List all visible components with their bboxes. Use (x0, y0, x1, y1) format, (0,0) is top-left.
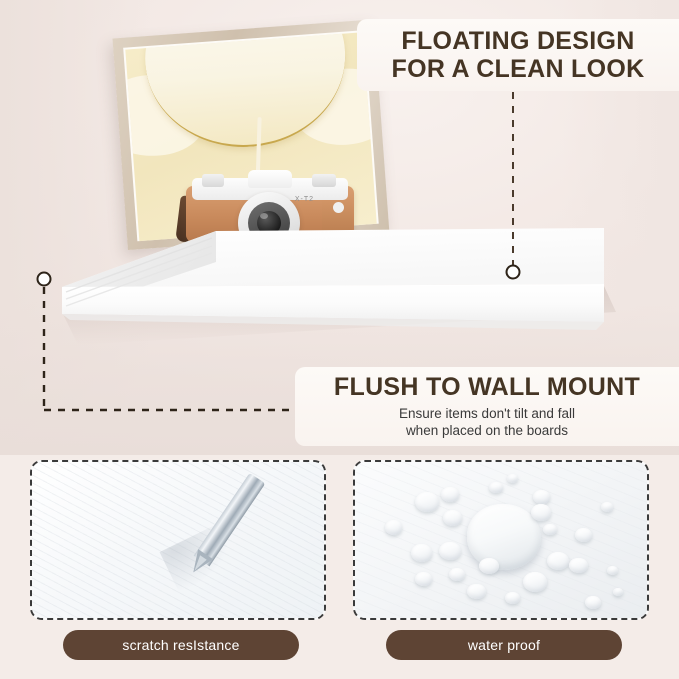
water-droplet (443, 510, 462, 526)
water-droplet-large (467, 504, 541, 570)
scratch-resistance-image (32, 462, 324, 618)
product-feature-graphic: X-T2 (0, 0, 679, 679)
water-droplet (543, 524, 557, 535)
water-droplet (415, 572, 432, 586)
water-droplet (507, 474, 518, 483)
water-droplet (607, 566, 618, 575)
water-droplet (613, 588, 623, 596)
water-droplet (569, 558, 588, 573)
water-droplet (439, 542, 461, 560)
feature-card-water-proof (353, 460, 649, 620)
callout-panel-floating-design: FLOATING DESIGN FOR A CLEAN LOOK (357, 19, 679, 91)
water-droplet (385, 520, 402, 535)
water-droplet (505, 592, 520, 604)
water-proof-image (355, 462, 647, 618)
water-droplet (479, 558, 499, 574)
water-droplet (415, 492, 439, 512)
scratch-surface-texture (32, 462, 324, 618)
water-droplet (411, 544, 432, 562)
water-droplet (601, 502, 613, 512)
subtext-flush-mount-line2: when placed on the boards (406, 422, 568, 439)
label-water-proof: water proof (386, 630, 622, 660)
water-droplet (585, 596, 601, 609)
water-droplet (531, 504, 551, 521)
label-scratch-resistance: scratch resIstance (63, 630, 299, 660)
water-droplet (547, 552, 569, 570)
water-droplet (575, 528, 592, 542)
heading-flush-mount: FLUSH TO WALL MOUNT (334, 374, 640, 402)
heading-floating-design-line2: FOR A CLEAN LOOK (392, 55, 645, 84)
heading-floating-design-line1: FLOATING DESIGN (401, 27, 634, 56)
callout-panel-flush-mount: FLUSH TO WALL MOUNT Ensure items don't t… (295, 367, 679, 446)
water-droplet (489, 482, 503, 493)
water-droplet (441, 487, 459, 502)
feature-card-scratch-resistance (30, 460, 326, 620)
water-droplet (449, 568, 465, 581)
subtext-flush-mount-line1: Ensure items don't tilt and fall (399, 405, 575, 422)
water-droplet (467, 584, 486, 599)
water-droplet (523, 572, 547, 592)
water-droplet (533, 490, 550, 504)
